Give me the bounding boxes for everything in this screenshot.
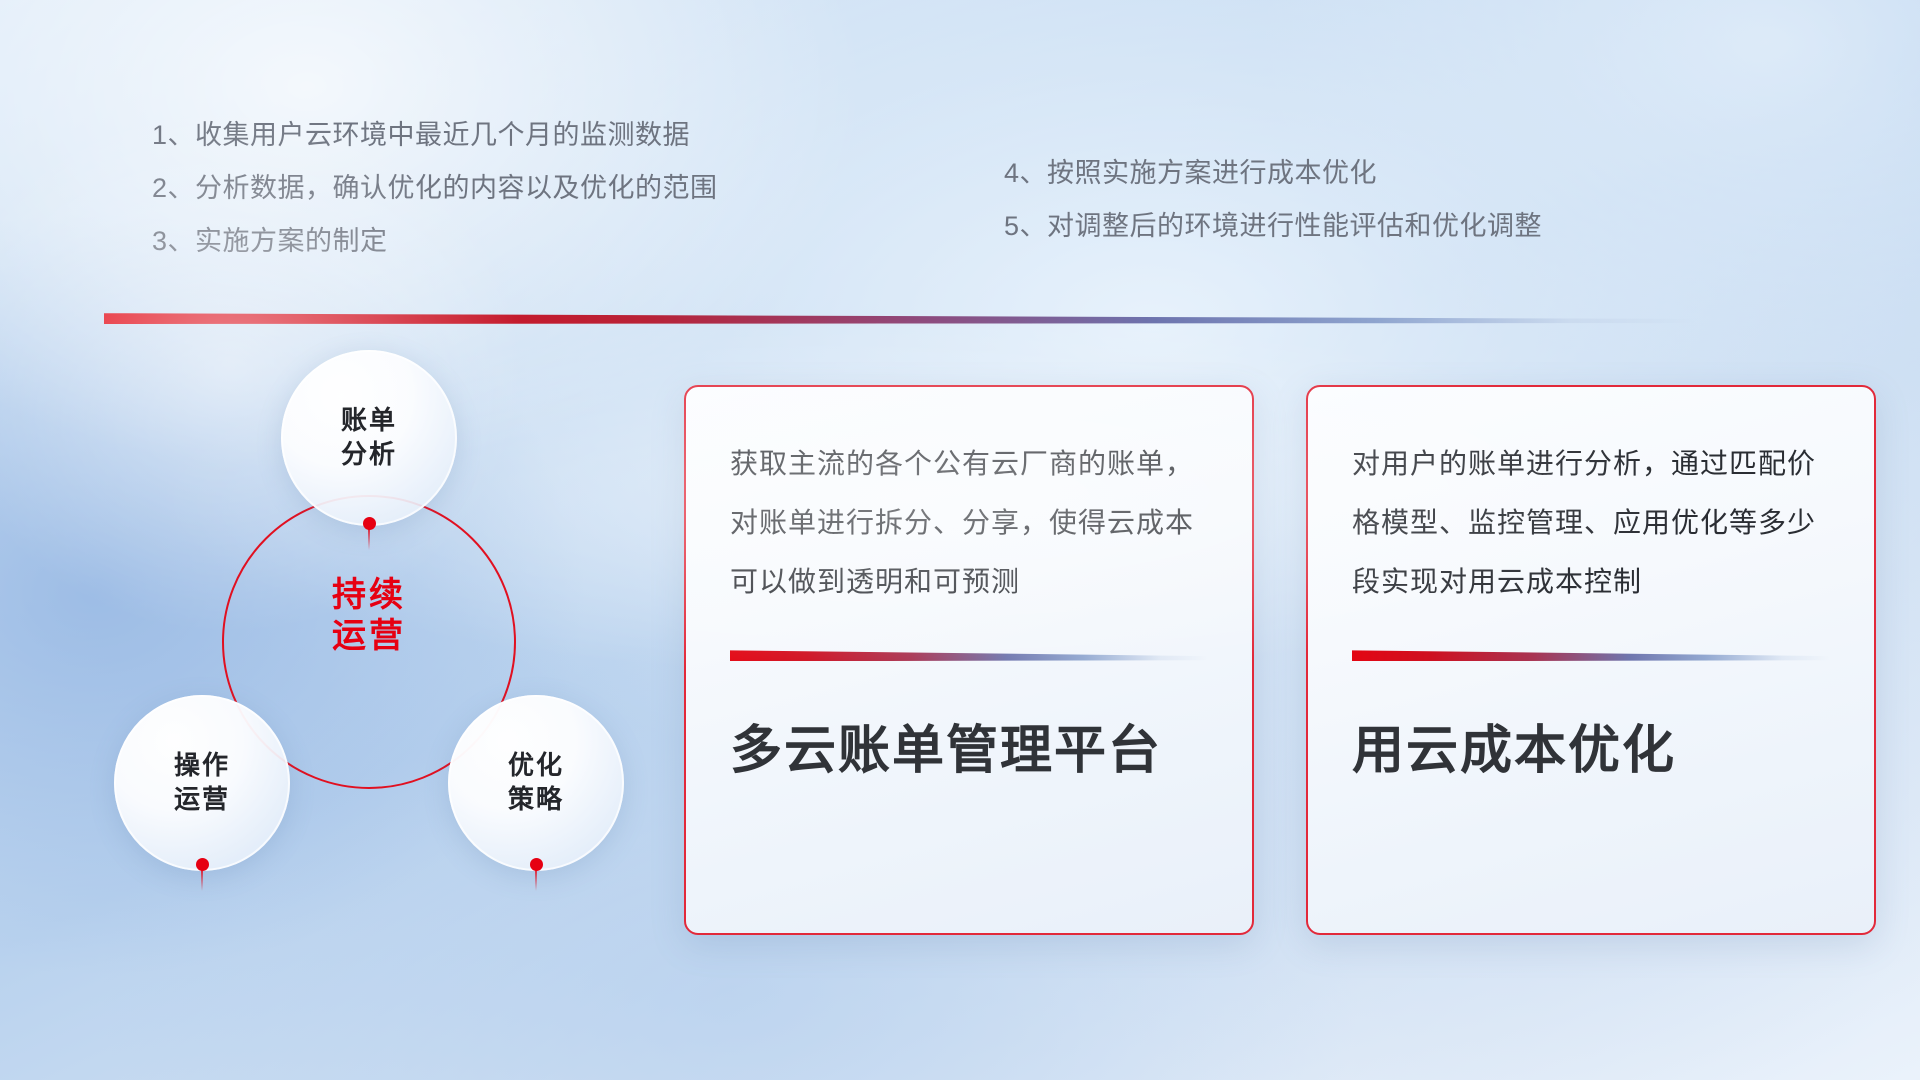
step-item-2: 2、分析数据，确认优化的内容以及优化的范围 [152, 175, 718, 202]
node-dot-top-icon [363, 517, 376, 530]
step-item-4: 4、按照实施方案进行成本优化 [1004, 160, 1542, 187]
card-1-divider-gradient-wedge [730, 649, 1208, 661]
bubble-optimization-strategy-line-2: 策略 [508, 783, 564, 817]
node-tail-top-icon [368, 528, 370, 550]
card-multi-cloud-billing[interactable]: 获取主流的各个公有云厂商的账单，对账单进行拆分、分享，使得云成本可以做到透明和可… [684, 385, 1254, 935]
step-item-3: 3、实施方案的制定 [152, 228, 718, 255]
card-cloud-cost-optimization[interactable]: 对用户的账单进行分析，通过匹配价格模型、监控管理、应用优化等多少段实现对用云成本… [1306, 385, 1876, 935]
node-tail-right-icon [535, 869, 537, 891]
node-tail-left-icon [201, 869, 203, 891]
step-item-5: 5、对调整后的环境进行性能评估和优化调整 [1004, 213, 1542, 240]
card-2-divider [1352, 649, 1830, 661]
steps-list-left: 1、收集用户云环境中最近几个月的监测数据 2、分析数据，确认优化的内容以及优化的… [152, 122, 718, 255]
bubble-optimization-strategy[interactable]: 优化 策略 [448, 695, 624, 871]
steps-list-right: 4、按照实施方案进行成本优化 5、对调整后的环境进行性能评估和优化调整 [1004, 160, 1542, 240]
bubble-operations[interactable]: 操作 运营 [114, 695, 290, 871]
bubble-bill-analysis-line-2: 分析 [341, 438, 397, 472]
bubble-operations-line-2: 运营 [174, 783, 230, 817]
node-dot-right-icon [530, 858, 543, 871]
node-dot-left-icon [196, 858, 209, 871]
center-label-line-2: 运营 [271, 616, 467, 657]
card-1-body-text: 获取主流的各个公有云厂商的账单，对账单进行拆分、分享，使得云成本可以做到透明和可… [730, 435, 1208, 611]
section-divider [104, 312, 1696, 324]
slide-canvas: 1、收集用户云环境中最近几个月的监测数据 2、分析数据，确认优化的内容以及优化的… [0, 0, 1920, 1080]
card-2-divider-gradient-wedge [1352, 649, 1830, 661]
card-2-title: 用云成本优化 [1352, 723, 1830, 780]
continuous-operation-diagram: 持续 运营 账单 分析 操作 运营 优化 策略 [96, 350, 636, 950]
bubble-bill-analysis-line-1: 账单 [341, 404, 397, 438]
center-ring-label: 持续 运营 [271, 575, 467, 658]
bubble-optimization-strategy-line-1: 优化 [508, 749, 564, 783]
card-1-divider [730, 649, 1208, 661]
step-item-1: 1、收集用户云环境中最近几个月的监测数据 [152, 122, 718, 149]
center-label-line-1: 持续 [271, 575, 467, 616]
bubble-bill-analysis[interactable]: 账单 分析 [281, 350, 457, 526]
divider-gradient-wedge [104, 312, 1696, 324]
card-1-title: 多云账单管理平台 [730, 723, 1208, 780]
card-2-body-text: 对用户的账单进行分析，通过匹配价格模型、监控管理、应用优化等多少段实现对用云成本… [1352, 435, 1830, 611]
bubble-operations-line-1: 操作 [174, 749, 230, 783]
